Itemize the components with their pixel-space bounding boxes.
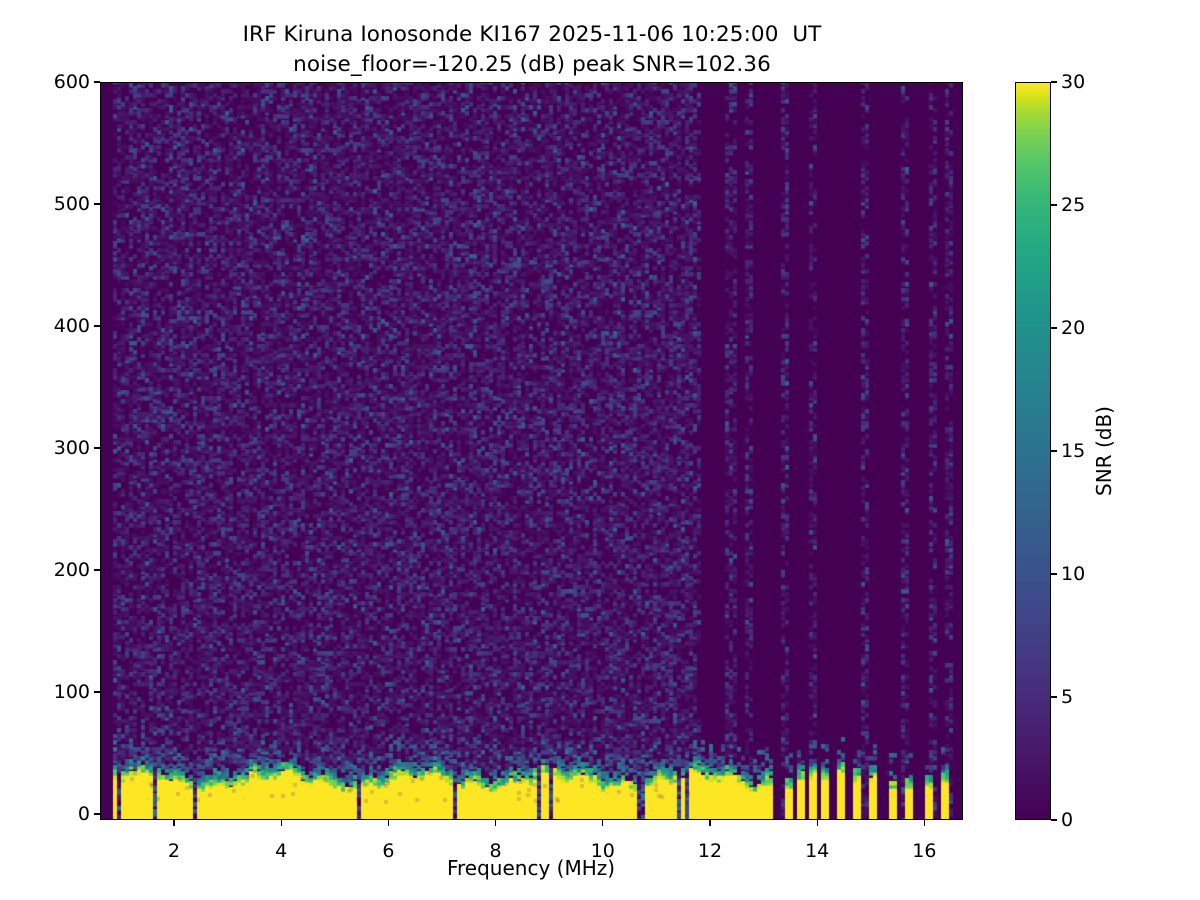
x-tick-mark	[709, 820, 710, 826]
colorbar-tick-mark	[1051, 327, 1057, 328]
colorbar-tick-mark	[1051, 450, 1057, 451]
y-tick-mark	[94, 203, 100, 204]
ionogram-plot-area	[100, 82, 963, 820]
y-tick-label-500: 500	[40, 193, 90, 215]
x-tick-mark	[817, 820, 818, 826]
x-tick-mark	[388, 820, 389, 826]
x-tick-mark	[495, 820, 496, 826]
x-tick-label-4: 4	[275, 840, 287, 862]
ionogram-figure: IRF Kiruna Ionosonde KI167 2025-11-06 10…	[0, 0, 1200, 900]
y-tick-label-400: 400	[40, 315, 90, 337]
colorbar-tick-mark	[1051, 819, 1057, 820]
ionogram-heatmap-canvas	[101, 83, 963, 820]
x-tick-mark	[173, 820, 174, 826]
y-tick-mark	[94, 81, 100, 82]
y-tick-mark	[94, 813, 100, 814]
x-tick-mark	[602, 820, 603, 826]
colorbar-tick-mark	[1051, 204, 1057, 205]
colorbar-tick-label-0: 0	[1061, 809, 1073, 831]
figure-title-line-2: noise_floor=-120.25 (dB) peak SNR=102.36	[0, 52, 1064, 77]
x-tick-label-2: 2	[168, 840, 180, 862]
colorbar-tick-label-10: 10	[1061, 563, 1085, 585]
y-tick-label-100: 100	[40, 681, 90, 703]
colorbar-tick-label-5: 5	[1061, 686, 1073, 708]
y-tick-mark	[94, 447, 100, 448]
colorbar-tick-label-20: 20	[1061, 317, 1085, 339]
x-tick-label-14: 14	[805, 840, 829, 862]
x-tick-label-16: 16	[912, 840, 936, 862]
colorbar	[1015, 82, 1051, 820]
x-tick-mark	[924, 820, 925, 826]
y-tick-label-0: 0	[40, 803, 90, 825]
y-tick-mark	[94, 325, 100, 326]
y-tick-mark	[94, 569, 100, 570]
y-tick-label-200: 200	[40, 559, 90, 581]
y-tick-label-600: 600	[40, 71, 90, 93]
y-tick-label-300: 300	[40, 437, 90, 459]
x-tick-mark	[281, 820, 282, 826]
colorbar-tick-mark	[1051, 696, 1057, 697]
colorbar-label: SNR (dB)	[1092, 406, 1116, 496]
colorbar-tick-label-25: 25	[1061, 194, 1085, 216]
colorbar-tick-label-30: 30	[1061, 71, 1085, 93]
figure-title-line-1: IRF Kiruna Ionosonde KI167 2025-11-06 10…	[0, 22, 1064, 47]
x-axis-label: Frequency (MHz)	[447, 856, 615, 880]
y-tick-mark	[94, 691, 100, 692]
colorbar-tick-mark	[1051, 573, 1057, 574]
colorbar-tick-mark	[1051, 81, 1057, 82]
x-tick-label-12: 12	[698, 840, 722, 862]
colorbar-tick-label-15: 15	[1061, 440, 1085, 462]
x-tick-label-6: 6	[382, 840, 394, 862]
